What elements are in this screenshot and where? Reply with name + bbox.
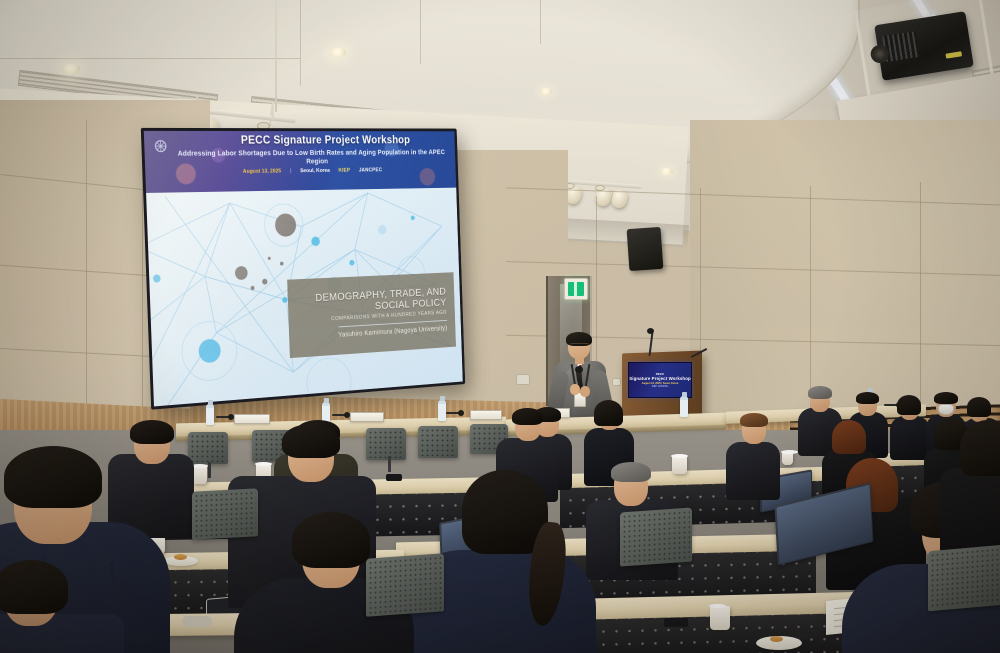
screen-surface: PECC Signature Project Workshop Addressi… <box>144 131 463 407</box>
exit-running-man-icon <box>568 282 584 296</box>
empty-chair[interactable] <box>928 545 1000 612</box>
screen-pull-chain[interactable] <box>275 0 277 112</box>
smartphone[interactable] <box>664 618 688 627</box>
empty-chair[interactable] <box>188 432 228 464</box>
coffee-cup[interactable] <box>672 456 687 474</box>
chair-leg <box>388 456 391 472</box>
podium-line2: Signature Project Workshop <box>629 376 691 381</box>
wall-panel-seam <box>86 120 87 420</box>
ceiling-seam <box>0 58 300 59</box>
desk-microphone[interactable] <box>446 412 462 414</box>
empty-chair[interactable] <box>418 426 458 458</box>
presenter-hand-left <box>570 384 580 395</box>
coffee-cup[interactable] <box>710 606 730 630</box>
eyeglasses-case <box>182 616 212 627</box>
banner-subtitle: Addressing Labor Shortages Due to Low Bi… <box>173 148 449 167</box>
name-card <box>350 412 384 422</box>
pastry <box>770 636 783 642</box>
banner-logo-kiep: KIEP <box>338 168 350 174</box>
water-bottle[interactable] <box>680 396 688 417</box>
podium-line4: KIEP JANCPEC <box>652 386 669 388</box>
projection-screen: PECC Signature Project Workshop Addressi… <box>141 128 465 410</box>
pastry <box>174 554 187 560</box>
empty-chair[interactable] <box>192 488 258 539</box>
coffee-cup[interactable] <box>192 466 207 484</box>
podium-line3: August 13, 2025 | Seoul, Korea <box>642 382 678 385</box>
ceiling-seam <box>300 0 301 86</box>
slide-author: Yasuhiro Kamimura (Nagoya University) <box>294 326 447 342</box>
name-card <box>470 410 502 420</box>
stage-banner: PECC Signature Project Workshop Addressi… <box>144 131 456 193</box>
name-card <box>234 414 270 424</box>
slide-title-block: DEMOGRAPHY, TRADE, AND SOCIAL POLICY COM… <box>287 272 456 359</box>
water-bottle[interactable] <box>206 404 214 425</box>
wall-mounted-speaker <box>627 227 664 271</box>
recessed-downlight <box>660 168 673 175</box>
coffee-cup[interactable] <box>782 452 793 465</box>
projector-label <box>945 51 962 58</box>
banner-logo-jancpec: JANCPEC <box>359 168 383 174</box>
banner-date: August 13, 2025 <box>243 169 282 175</box>
empty-chair[interactable] <box>366 553 444 616</box>
empty-chair[interactable] <box>366 428 406 460</box>
smartphone[interactable] <box>386 474 402 481</box>
conference-hall-photo: PECC Signature Project Workshop Addressi… <box>0 0 1000 653</box>
presenter-hand-right <box>580 386 590 397</box>
handheld-microphone-head <box>575 366 583 373</box>
desk-microphone[interactable] <box>216 416 232 418</box>
track-rod <box>272 102 274 120</box>
water-bottle[interactable] <box>438 400 446 421</box>
wall-outlet-plate[interactable] <box>612 378 621 386</box>
podium-microphone-head <box>647 328 654 334</box>
presenter-glasses <box>570 343 589 348</box>
recessed-downlight <box>330 48 346 57</box>
ceiling-seam <box>540 0 541 44</box>
desk-microphone[interactable] <box>332 414 348 416</box>
banner-title: PECC Signature Project Workshop <box>197 135 448 147</box>
recessed-downlight <box>62 64 80 74</box>
chair-leg <box>208 462 211 478</box>
banner-location: Seoul, Korea <box>300 168 330 174</box>
banner-divider: | <box>290 168 291 174</box>
exit-sign <box>564 278 588 300</box>
recessed-downlight <box>540 88 552 95</box>
wall-switch-plate[interactable] <box>516 374 530 385</box>
ceiling-seam <box>420 0 421 64</box>
empty-chair[interactable] <box>620 507 692 566</box>
